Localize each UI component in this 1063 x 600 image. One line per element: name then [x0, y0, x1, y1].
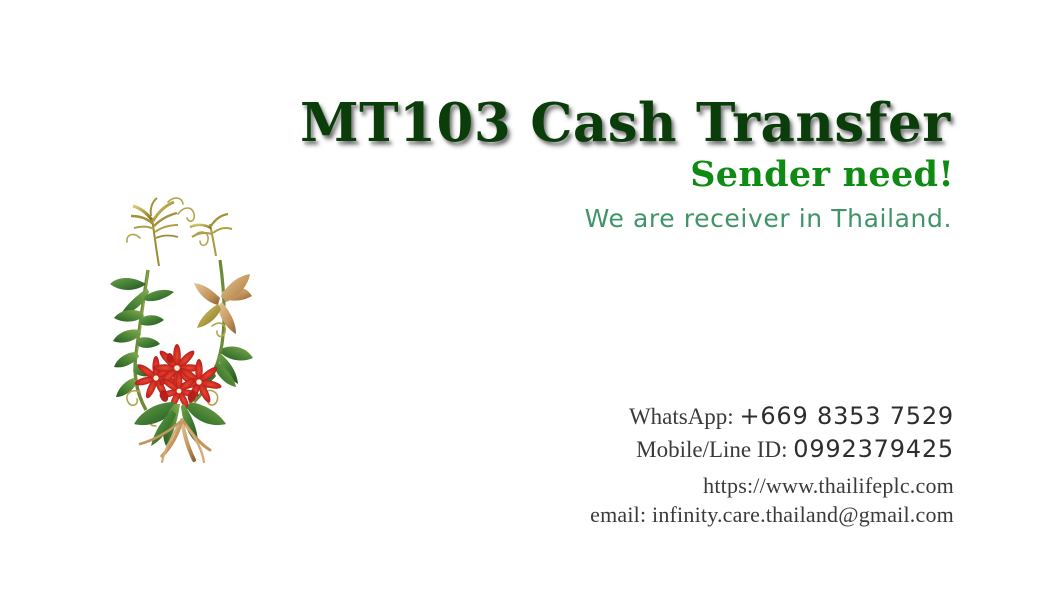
- contact-block: WhatsApp: +669 8353 7529 Mobile/Line ID:…: [560, 404, 954, 526]
- whatsapp-number[interactable]: +669 8353 7529: [739, 402, 954, 430]
- mobile-line: Mobile/Line ID: 0992379425: [560, 437, 954, 461]
- email-address[interactable]: infinity.care.thailand@gmail.com: [652, 502, 954, 527]
- red-flower-cluster: [134, 344, 222, 411]
- headline-block: MT103 Cash Transfer Sender need! We are …: [300, 96, 960, 233]
- page-title: MT103 Cash Transfer: [300, 96, 960, 150]
- base-roots: [140, 420, 210, 462]
- email-label: email:: [590, 502, 646, 527]
- mobile-label: Mobile/Line ID:: [636, 437, 787, 462]
- email-line: email: infinity.care.thailand@gmail.com: [560, 504, 954, 526]
- website-link[interactable]: https://www.thailifeplc.com: [560, 475, 954, 497]
- mobile-number[interactable]: 0992379425: [793, 435, 954, 463]
- poster-page: MT103 Cash Transfer Sender need! We are …: [0, 0, 1063, 600]
- golden-fronds: [131, 198, 178, 266]
- subtitle: Sender need!: [300, 156, 960, 195]
- botanical-wreath-icon: [104, 196, 256, 464]
- tagline: We are receiver in Thailand.: [300, 205, 960, 234]
- whatsapp-line: WhatsApp: +669 8353 7529: [560, 404, 954, 428]
- floral-illustration: [104, 196, 256, 464]
- golden-frond-right: [190, 214, 232, 256]
- whatsapp-label: WhatsApp:: [629, 404, 734, 429]
